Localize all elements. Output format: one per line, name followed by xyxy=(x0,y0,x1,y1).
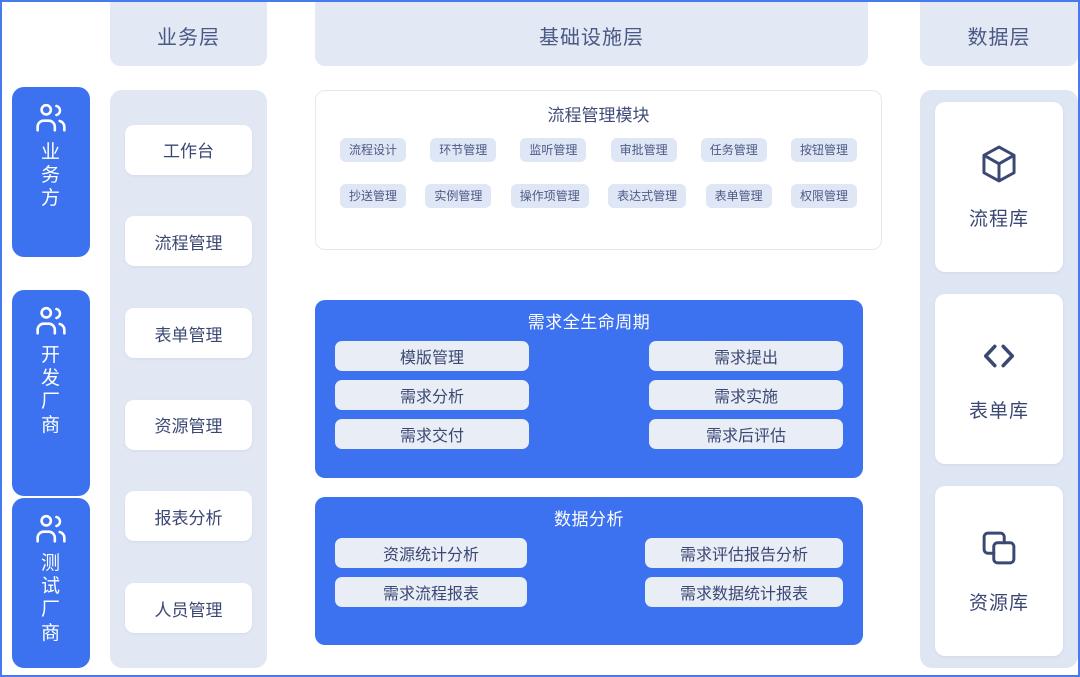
architecture-diagram: 业务层 基础设施层 数据层 业务方 开发厂商 xyxy=(0,0,1080,677)
actor-tile-business-party[interactable]: 业务方 xyxy=(12,87,90,257)
requirement-lifecycle-row: 模版管理 需求提出 xyxy=(335,341,843,371)
actor-tile-dev-vendor[interactable]: 开发厂商 xyxy=(12,290,90,496)
process-chip-operation-item-management[interactable]: 操作项管理 xyxy=(511,184,589,208)
process-chip-permission-management[interactable]: 权限管理 xyxy=(791,184,857,208)
cube-icon xyxy=(978,143,1020,190)
data-card-label: 资源库 xyxy=(969,588,1029,615)
users-icon xyxy=(34,514,68,544)
business-item-report-analysis[interactable]: 报表分析 xyxy=(125,491,252,541)
requirement-lifecycle-row: 需求交付 需求后评估 xyxy=(335,419,843,449)
lifecycle-item-requirement-analysis[interactable]: 需求分析 xyxy=(335,380,529,410)
layer-header-infrastructure-label: 基础设施层 xyxy=(539,21,644,50)
business-item-resource-management[interactable]: 资源管理 xyxy=(125,400,252,450)
business-item-label: 工作台 xyxy=(163,137,214,162)
business-item-label: 人员管理 xyxy=(155,596,223,621)
data-analysis-row: 需求流程报表 需求数据统计报表 xyxy=(335,577,843,607)
lifecycle-item-requirement-delivery[interactable]: 需求交付 xyxy=(335,419,529,449)
process-chip-node-management[interactable]: 环节管理 xyxy=(430,138,496,162)
lifecycle-item-requirement-implementation[interactable]: 需求实施 xyxy=(649,380,843,410)
process-chip-listener-management[interactable]: 监听管理 xyxy=(520,138,586,162)
business-layer-panel: 工作台 流程管理 表单管理 资源管理 报表分析 人员管理 xyxy=(110,90,267,668)
data-analysis-group: 数据分析 资源统计分析 需求评估报告分析 需求流程报表 需求数据统计报表 xyxy=(315,497,863,645)
process-chip-expression-management[interactable]: 表达式管理 xyxy=(608,184,686,208)
data-card-process-library[interactable]: 流程库 xyxy=(935,102,1063,272)
actor-tile-test-vendor[interactable]: 测试厂商 xyxy=(12,498,90,668)
business-item-label: 表单管理 xyxy=(155,321,223,346)
process-chip-instance-management[interactable]: 实例管理 xyxy=(425,184,491,208)
actor-label: 测试厂商 xyxy=(39,552,63,645)
process-chip-form-management[interactable]: 表单管理 xyxy=(706,184,772,208)
requirement-lifecycle-title: 需求全生命周期 xyxy=(335,308,843,333)
business-item-label: 资源管理 xyxy=(155,412,223,437)
code-brackets-icon xyxy=(978,335,1020,382)
process-chip-cc-management[interactable]: 抄送管理 xyxy=(340,184,406,208)
actor-label: 开发厂商 xyxy=(39,344,63,437)
data-analysis-row: 资源统计分析 需求评估报告分析 xyxy=(335,538,843,568)
business-item-form-management[interactable]: 表单管理 xyxy=(125,308,252,358)
process-chip-button-management[interactable]: 按钮管理 xyxy=(791,138,857,162)
users-icon xyxy=(34,103,68,133)
layer-header-business: 业务层 xyxy=(110,0,267,66)
copy-layers-icon xyxy=(978,527,1020,574)
layer-header-data-label: 数据层 xyxy=(968,21,1031,50)
lifecycle-item-post-requirement-evaluation[interactable]: 需求后评估 xyxy=(649,419,843,449)
business-item-personnel-management[interactable]: 人员管理 xyxy=(125,583,252,633)
data-layer-panel: 流程库 表单库 资源库 xyxy=(920,90,1078,668)
data-card-resource-library[interactable]: 资源库 xyxy=(935,486,1063,656)
data-card-label: 表单库 xyxy=(969,396,1029,423)
data-card-label: 流程库 xyxy=(969,204,1029,231)
requirement-lifecycle-group: 需求全生命周期 模版管理 需求提出 需求分析 需求实施 需求交付 需求后评估 xyxy=(315,300,863,478)
requirement-lifecycle-row: 需求分析 需求实施 xyxy=(335,380,843,410)
business-item-workbench[interactable]: 工作台 xyxy=(125,125,252,175)
process-module-title: 流程管理模块 xyxy=(330,101,867,126)
analysis-item-requirement-data-statistics-report[interactable]: 需求数据统计报表 xyxy=(645,577,843,607)
business-item-label: 报表分析 xyxy=(155,504,223,529)
business-item-process-management[interactable]: 流程管理 xyxy=(125,216,252,266)
lifecycle-item-requirement-submission[interactable]: 需求提出 xyxy=(649,341,843,371)
data-analysis-title: 数据分析 xyxy=(335,505,843,530)
analysis-item-requirement-evaluation-report[interactable]: 需求评估报告分析 xyxy=(645,538,843,568)
lifecycle-item-template-management[interactable]: 模版管理 xyxy=(335,341,529,371)
analysis-item-resource-statistics[interactable]: 资源统计分析 xyxy=(335,538,527,568)
process-chip-approval-management[interactable]: 审批管理 xyxy=(611,138,677,162)
actor-label: 业务方 xyxy=(39,141,63,211)
process-chip-task-management[interactable]: 任务管理 xyxy=(701,138,767,162)
layer-header-infrastructure: 基础设施层 xyxy=(315,0,868,66)
process-chip-flow-design[interactable]: 流程设计 xyxy=(340,138,406,162)
layer-header-data: 数据层 xyxy=(920,0,1078,66)
data-card-form-library[interactable]: 表单库 xyxy=(935,294,1063,464)
process-module-row-1: 流程设计 环节管理 监听管理 审批管理 任务管理 按钮管理 xyxy=(330,138,867,162)
process-module-row-2: 抄送管理 实例管理 操作项管理 表达式管理 表单管理 权限管理 xyxy=(330,184,867,208)
users-icon xyxy=(34,306,68,336)
layer-header-business-label: 业务层 xyxy=(157,21,220,50)
business-item-label: 流程管理 xyxy=(155,229,223,254)
process-management-module: 流程管理模块 流程设计 环节管理 监听管理 审批管理 任务管理 按钮管理 抄送管… xyxy=(315,90,882,250)
analysis-item-requirement-process-report[interactable]: 需求流程报表 xyxy=(335,577,527,607)
